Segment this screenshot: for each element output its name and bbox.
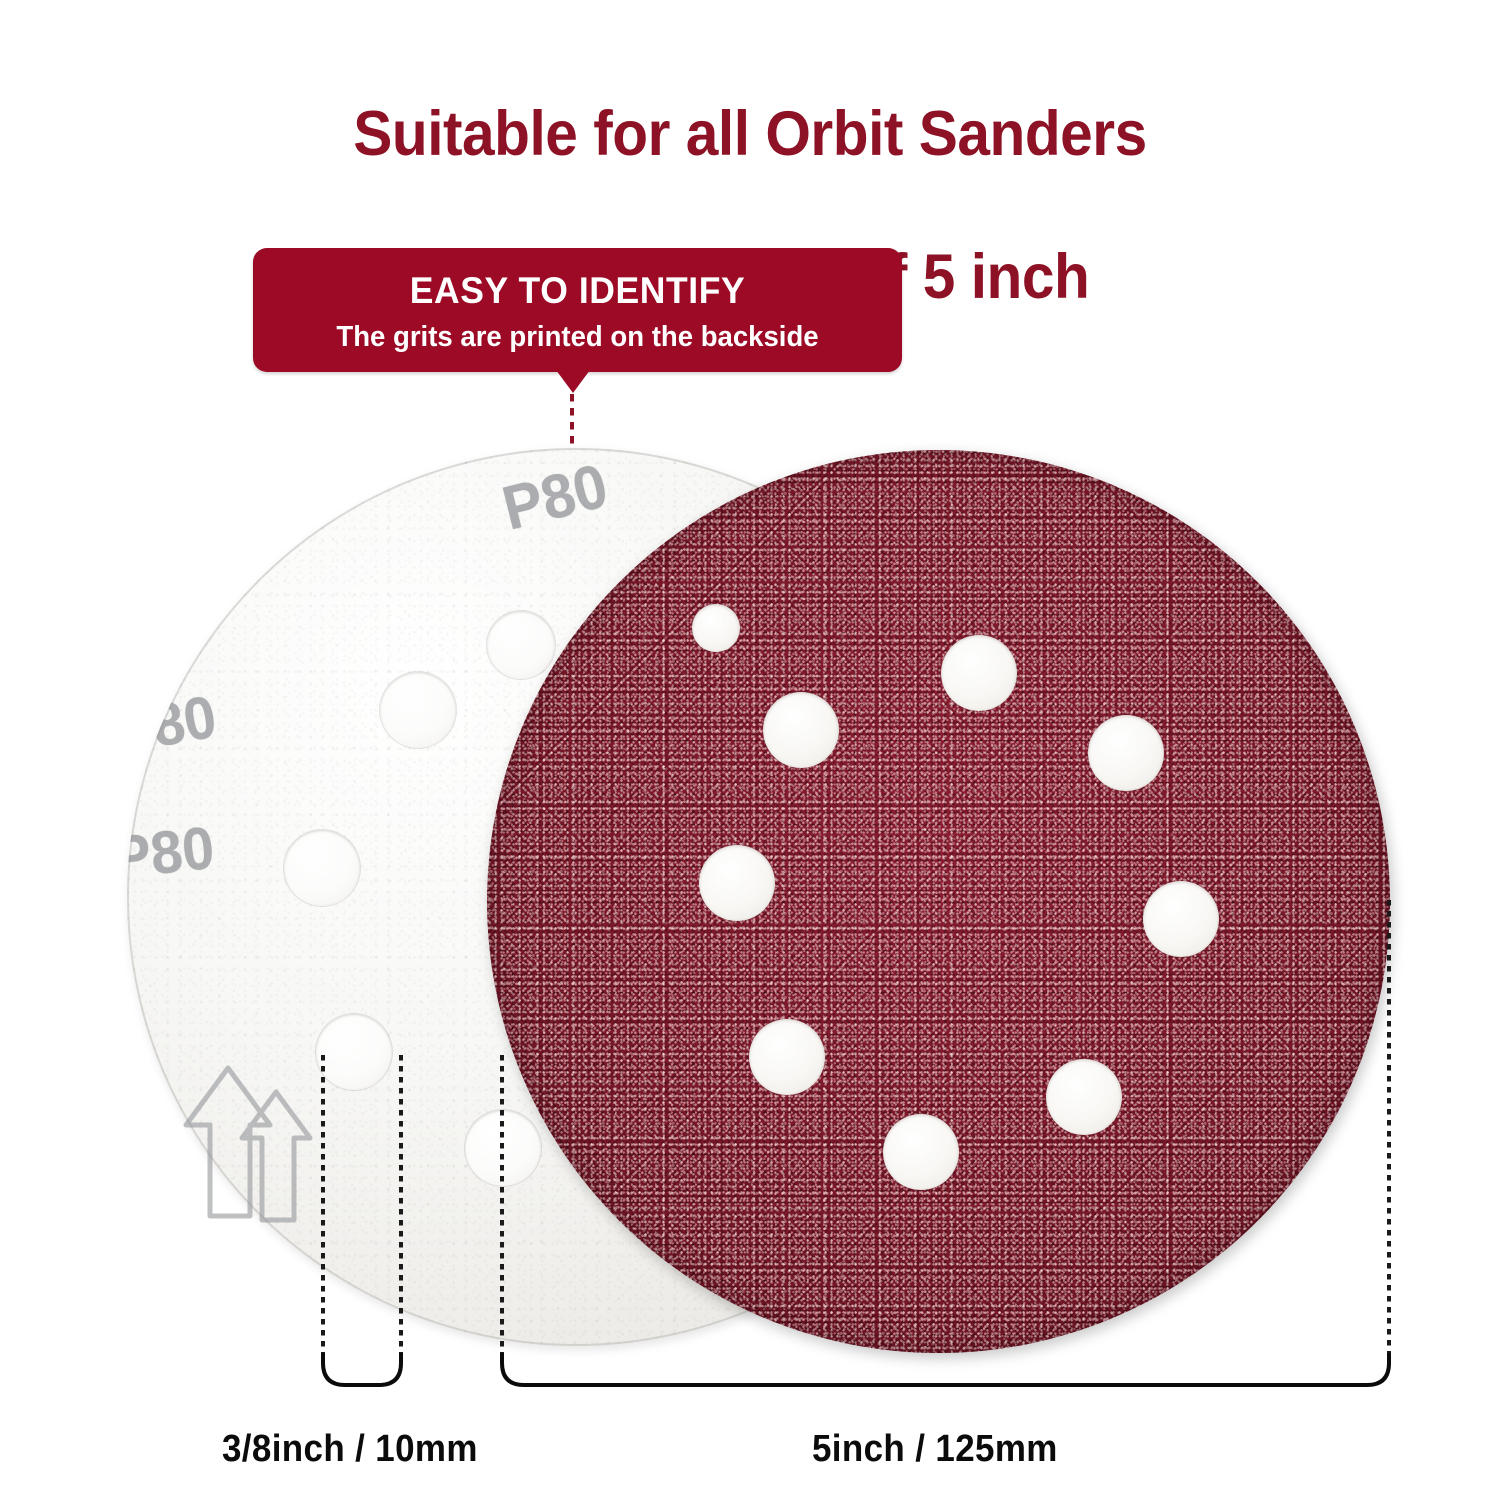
dimension-bracket xyxy=(500,1351,1391,1391)
dimension-guide-line xyxy=(1387,900,1391,1355)
disc-hole xyxy=(883,1114,959,1190)
disc-hole xyxy=(316,1014,392,1090)
disc-hole xyxy=(380,672,456,748)
headline-line-1: Suitable for all Orbit Sanders xyxy=(53,99,1448,170)
callout-pointer-icon xyxy=(556,370,590,393)
disc-hole xyxy=(1143,881,1219,957)
product-infographic: Suitable for all Orbit Sanders with a Di… xyxy=(0,0,1500,1500)
dimension-guide-line xyxy=(500,1055,504,1355)
grit-label-print: P80 xyxy=(127,682,221,768)
dimension-label: 5inch / 125mm xyxy=(812,1428,1058,1471)
callout-subtitle: The grits are printed on the backside xyxy=(269,321,886,354)
disc-hole xyxy=(763,692,839,768)
disc-hole xyxy=(1046,1059,1122,1135)
dimension-bracket xyxy=(321,1351,403,1391)
callout-title: EASY TO IDENTIFY xyxy=(266,270,889,312)
callout-badge: EASY TO IDENTIFY The grits are printed o… xyxy=(253,248,902,372)
dimension-guide-line xyxy=(399,1055,403,1355)
grit-label-print: P80 xyxy=(127,813,217,892)
disc-hole xyxy=(692,604,740,652)
disc-hole xyxy=(941,635,1017,711)
disc-hole xyxy=(699,845,775,921)
disc-hole xyxy=(284,830,360,906)
disc-hole xyxy=(1088,715,1164,791)
sanding-disc-abrasive-red xyxy=(487,450,1390,1353)
disc-edge-shading xyxy=(487,450,1390,1353)
dimension-guide-line xyxy=(321,1055,325,1355)
disc-hole xyxy=(749,1019,825,1095)
dimension-label: 3/8inch / 10mm xyxy=(222,1428,478,1471)
